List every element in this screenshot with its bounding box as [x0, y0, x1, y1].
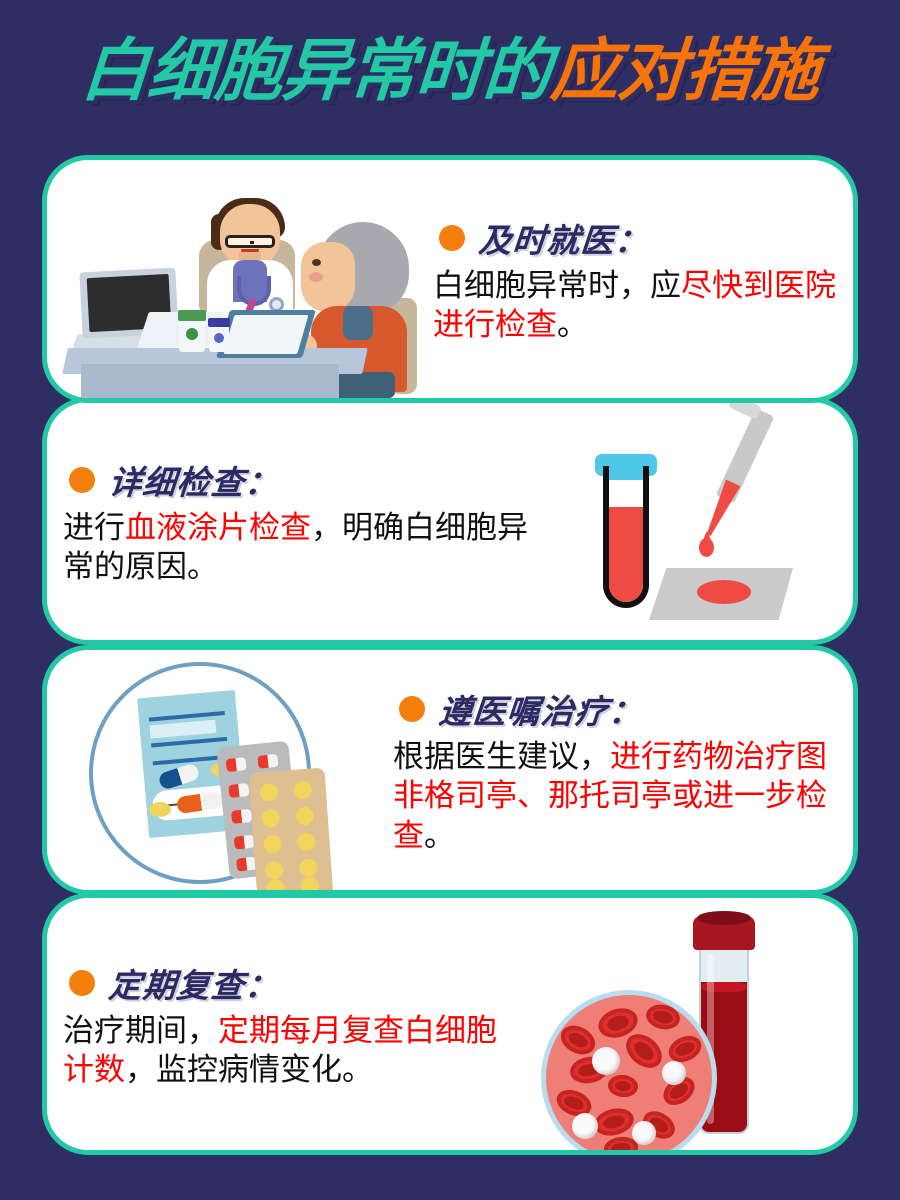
card-4-heading: 定期复查： — [63, 959, 507, 1007]
card-4-copy: 定期复查： 治疗期间，定期每月复查白细胞计数，监控病情变化。 — [47, 959, 523, 1089]
card-3-heading-text: 遵医嘱治疗： — [437, 685, 645, 733]
card-regular-recheck: 定期复查： 治疗期间，定期每月复查白细胞计数，监控病情变化。 — [42, 893, 858, 1155]
card-2-body: 进行血液涂片检查，明确白细胞异常的原因。 — [63, 508, 547, 586]
card-2-copy: 详细检查： 进行血液涂片检查，明确白细胞异常的原因。 — [47, 456, 563, 586]
card-detailed-examination: 详细检查： 进行血液涂片检查，明确白细胞异常的原因。 — [42, 397, 858, 645]
card-timely-medical-care: 及时就医： 白细胞异常时，应尽快到医院进行检查。 — [42, 155, 858, 403]
orange-dot-icon — [439, 225, 465, 251]
blood-vial-blood-cells-illustration — [523, 898, 853, 1150]
card-1-body-seg-1: 白细胞异常时，应 — [433, 268, 681, 303]
card-2-body-seg-2: 血液涂片检查 — [125, 510, 311, 545]
orange-dot-icon — [399, 696, 425, 722]
card-4-body: 治疗期间，定期每月复查白细胞计数，监控病情变化。 — [63, 1011, 507, 1089]
prescription-pills-speech-bubble-illustration — [47, 650, 377, 890]
page-title: 白细胞异常时的应对措施 — [0, 36, 900, 107]
blood-smear-test-tube-pipette-illustration — [563, 402, 853, 640]
doctor-patient-consultation-illustration — [47, 160, 417, 398]
orange-dot-icon — [69, 970, 95, 996]
card-4-heading-text: 定期复查： — [107, 959, 281, 1007]
card-3-copy: 遵医嘱治疗： 根据医生建议，进行药物治疗图非格司亭、那托司亭或进一步检查。 — [377, 685, 853, 854]
card-3-body-seg-3: 。 — [424, 818, 455, 853]
card-3-heading: 遵医嘱治疗： — [393, 685, 837, 733]
card-1-heading-text: 及时就医： — [477, 214, 651, 262]
card-2-body-seg-1: 进行 — [63, 510, 125, 545]
card-1-body: 白细胞异常时，应尽快到医院进行检查。 — [433, 266, 837, 344]
card-2-heading-text: 详细检查： — [107, 456, 281, 504]
card-3-body-seg-1: 根据医生建议， — [393, 739, 610, 774]
card-1-body-seg-3: 。 — [557, 307, 588, 342]
card-3-body: 根据医生建议，进行药物治疗图非格司亭、那托司亭或进一步检查。 — [393, 737, 837, 854]
card-4-body-seg-1: 治疗期间， — [63, 1013, 218, 1048]
card-1-copy: 及时就医： 白细胞异常时，应尽快到医院进行检查。 — [417, 214, 853, 344]
infographic-poster: 白细胞异常时的应对措施 — [0, 0, 900, 1200]
card-1-heading: 及时就医： — [433, 214, 837, 262]
orange-dot-icon — [69, 467, 95, 493]
title-orange-part: 应对措施 — [548, 36, 821, 107]
card-follow-doctor-advice: 遵医嘱治疗： 根据医生建议，进行药物治疗图非格司亭、那托司亭或进一步检查。 — [42, 645, 858, 895]
title-teal-part: 白细胞异常时的 — [79, 36, 553, 107]
card-4-body-seg-3: ，监控病情变化。 — [125, 1052, 373, 1087]
card-2-heading: 详细检查： — [63, 456, 547, 504]
